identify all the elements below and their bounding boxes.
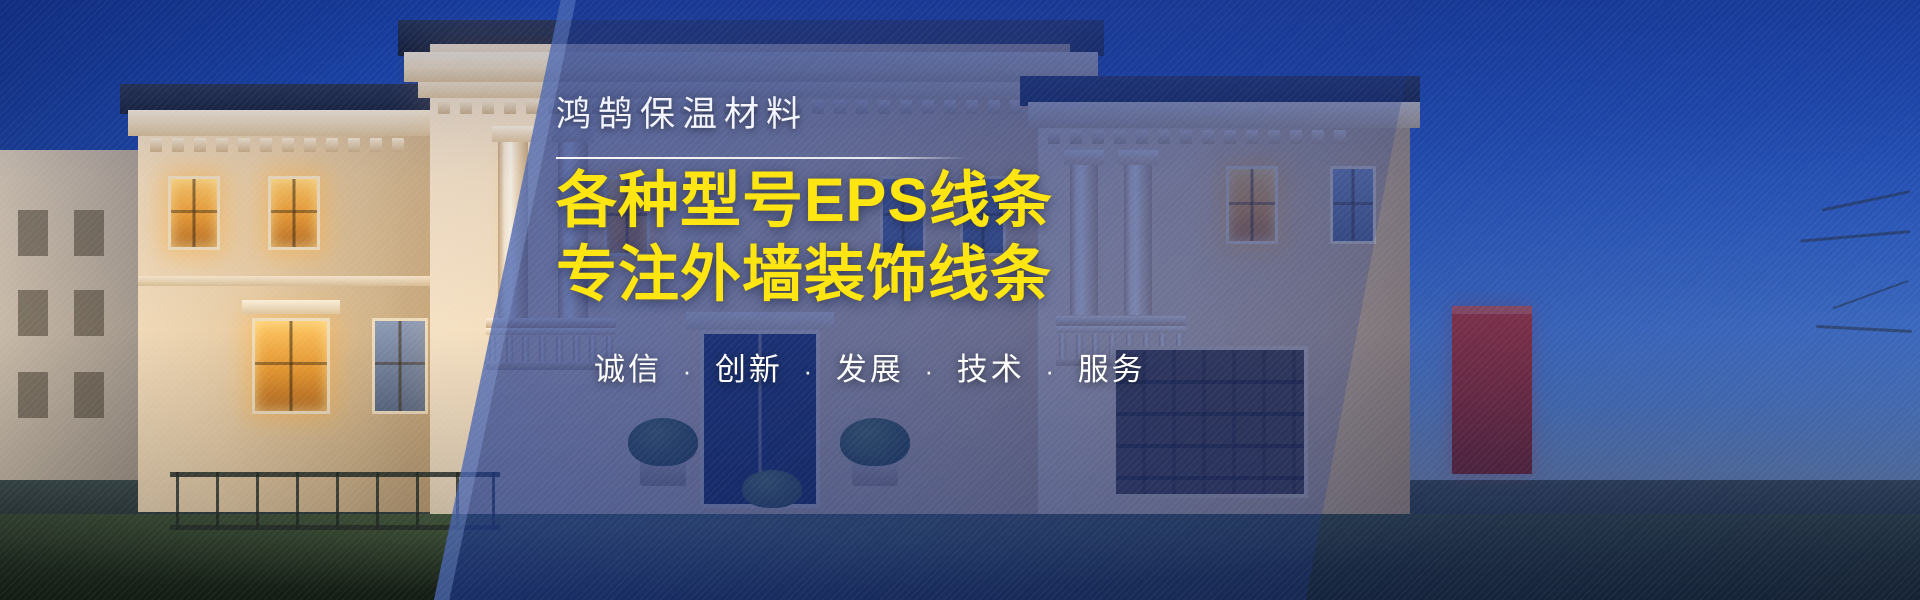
left-wing-band — [138, 276, 438, 286]
front-railing — [170, 472, 500, 530]
window-left-lower-1 — [252, 318, 330, 414]
slogan-item-3: 技术 — [957, 352, 1025, 387]
slogan-separator-2: · — [924, 356, 936, 386]
window-left-upper-1 — [168, 176, 220, 250]
hero-banner: 鸿鹄保温材料 各种型号EPS线条 专注外墙装饰线条 诚信 · 创新 · 发展 ·… — [0, 0, 1920, 600]
brand-name: 鸿鹄保温材料 — [556, 96, 1516, 135]
headline-line-2: 专注外墙装饰线条 — [556, 239, 1516, 310]
slogan-item-2: 发展 — [836, 352, 904, 387]
slogan-item-4: 服务 — [1078, 352, 1146, 387]
slogan: 诚信 · 创新 · 发展 · 技术 · 服务 — [594, 344, 1516, 389]
shrub-left — [628, 418, 698, 466]
column-cap-1 — [492, 126, 534, 142]
far-building-left — [0, 150, 150, 480]
slogan-separator-1: · — [804, 356, 816, 386]
window-left-lower-1-pediment — [242, 300, 340, 314]
shrub-right — [840, 418, 910, 466]
center-cornice — [404, 52, 1098, 82]
divider-rule — [556, 157, 968, 159]
shrub-center — [742, 470, 802, 508]
left-wing-dentils — [150, 138, 404, 152]
column-1 — [498, 142, 528, 318]
window-left-upper-2 — [268, 176, 320, 250]
headline-line-1: 各种型号EPS线条 — [556, 165, 1516, 236]
banner-copy: 鸿鹄保温材料 各种型号EPS线条 专注外墙装饰线条 诚信 · 创新 · 发展 ·… — [556, 96, 1516, 389]
slogan-item-1: 创新 — [715, 352, 783, 387]
slogan-separator-0: · — [683, 356, 695, 386]
left-wing-cornice — [128, 110, 448, 136]
window-left-lower-2 — [372, 318, 428, 414]
tree-right — [1770, 160, 1920, 460]
slogan-separator-3: · — [1045, 356, 1057, 386]
slogan-item-0: 诚信 — [594, 352, 662, 387]
